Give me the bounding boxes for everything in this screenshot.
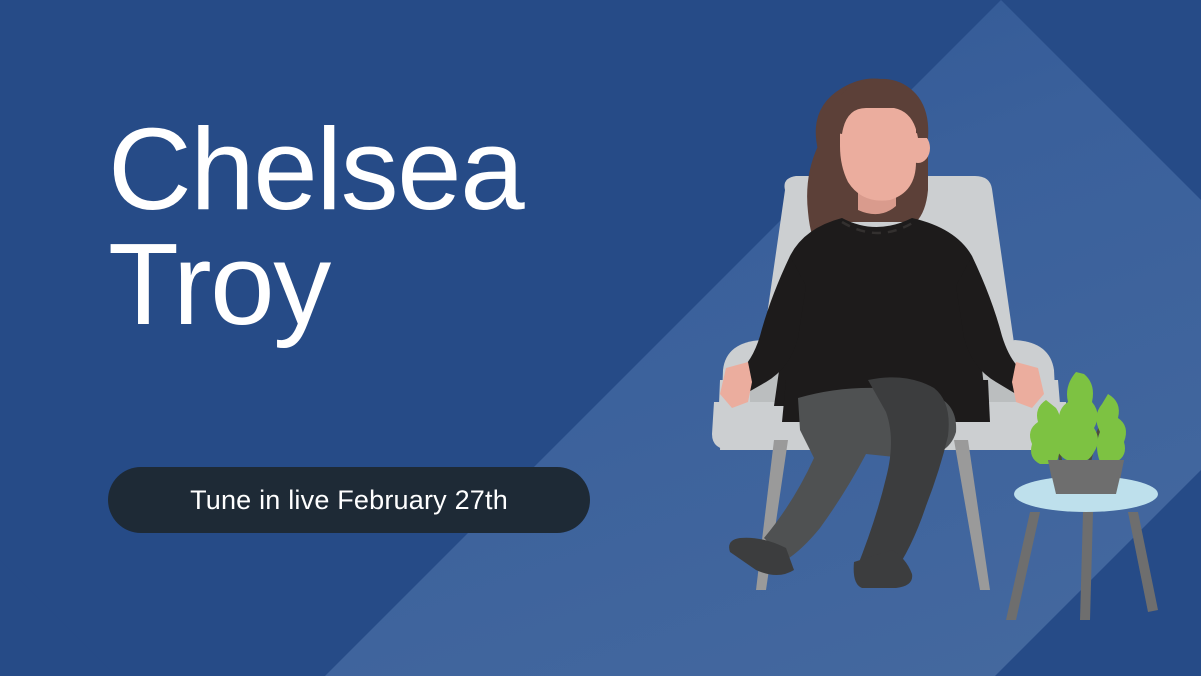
side-table-legs — [1006, 512, 1158, 620]
tune-in-badge-label: Tune in live February 27th — [190, 485, 508, 516]
sweater-torso — [774, 218, 986, 406]
plant-pot-front — [1048, 460, 1124, 494]
tune-in-badge: Tune in live February 27th — [108, 467, 590, 533]
promo-banner: Chelsea Troy Tune in live February 27th — [0, 0, 1201, 676]
seated-woman-illustration — [690, 50, 1190, 620]
speaker-name-title: Chelsea Troy — [108, 112, 728, 342]
